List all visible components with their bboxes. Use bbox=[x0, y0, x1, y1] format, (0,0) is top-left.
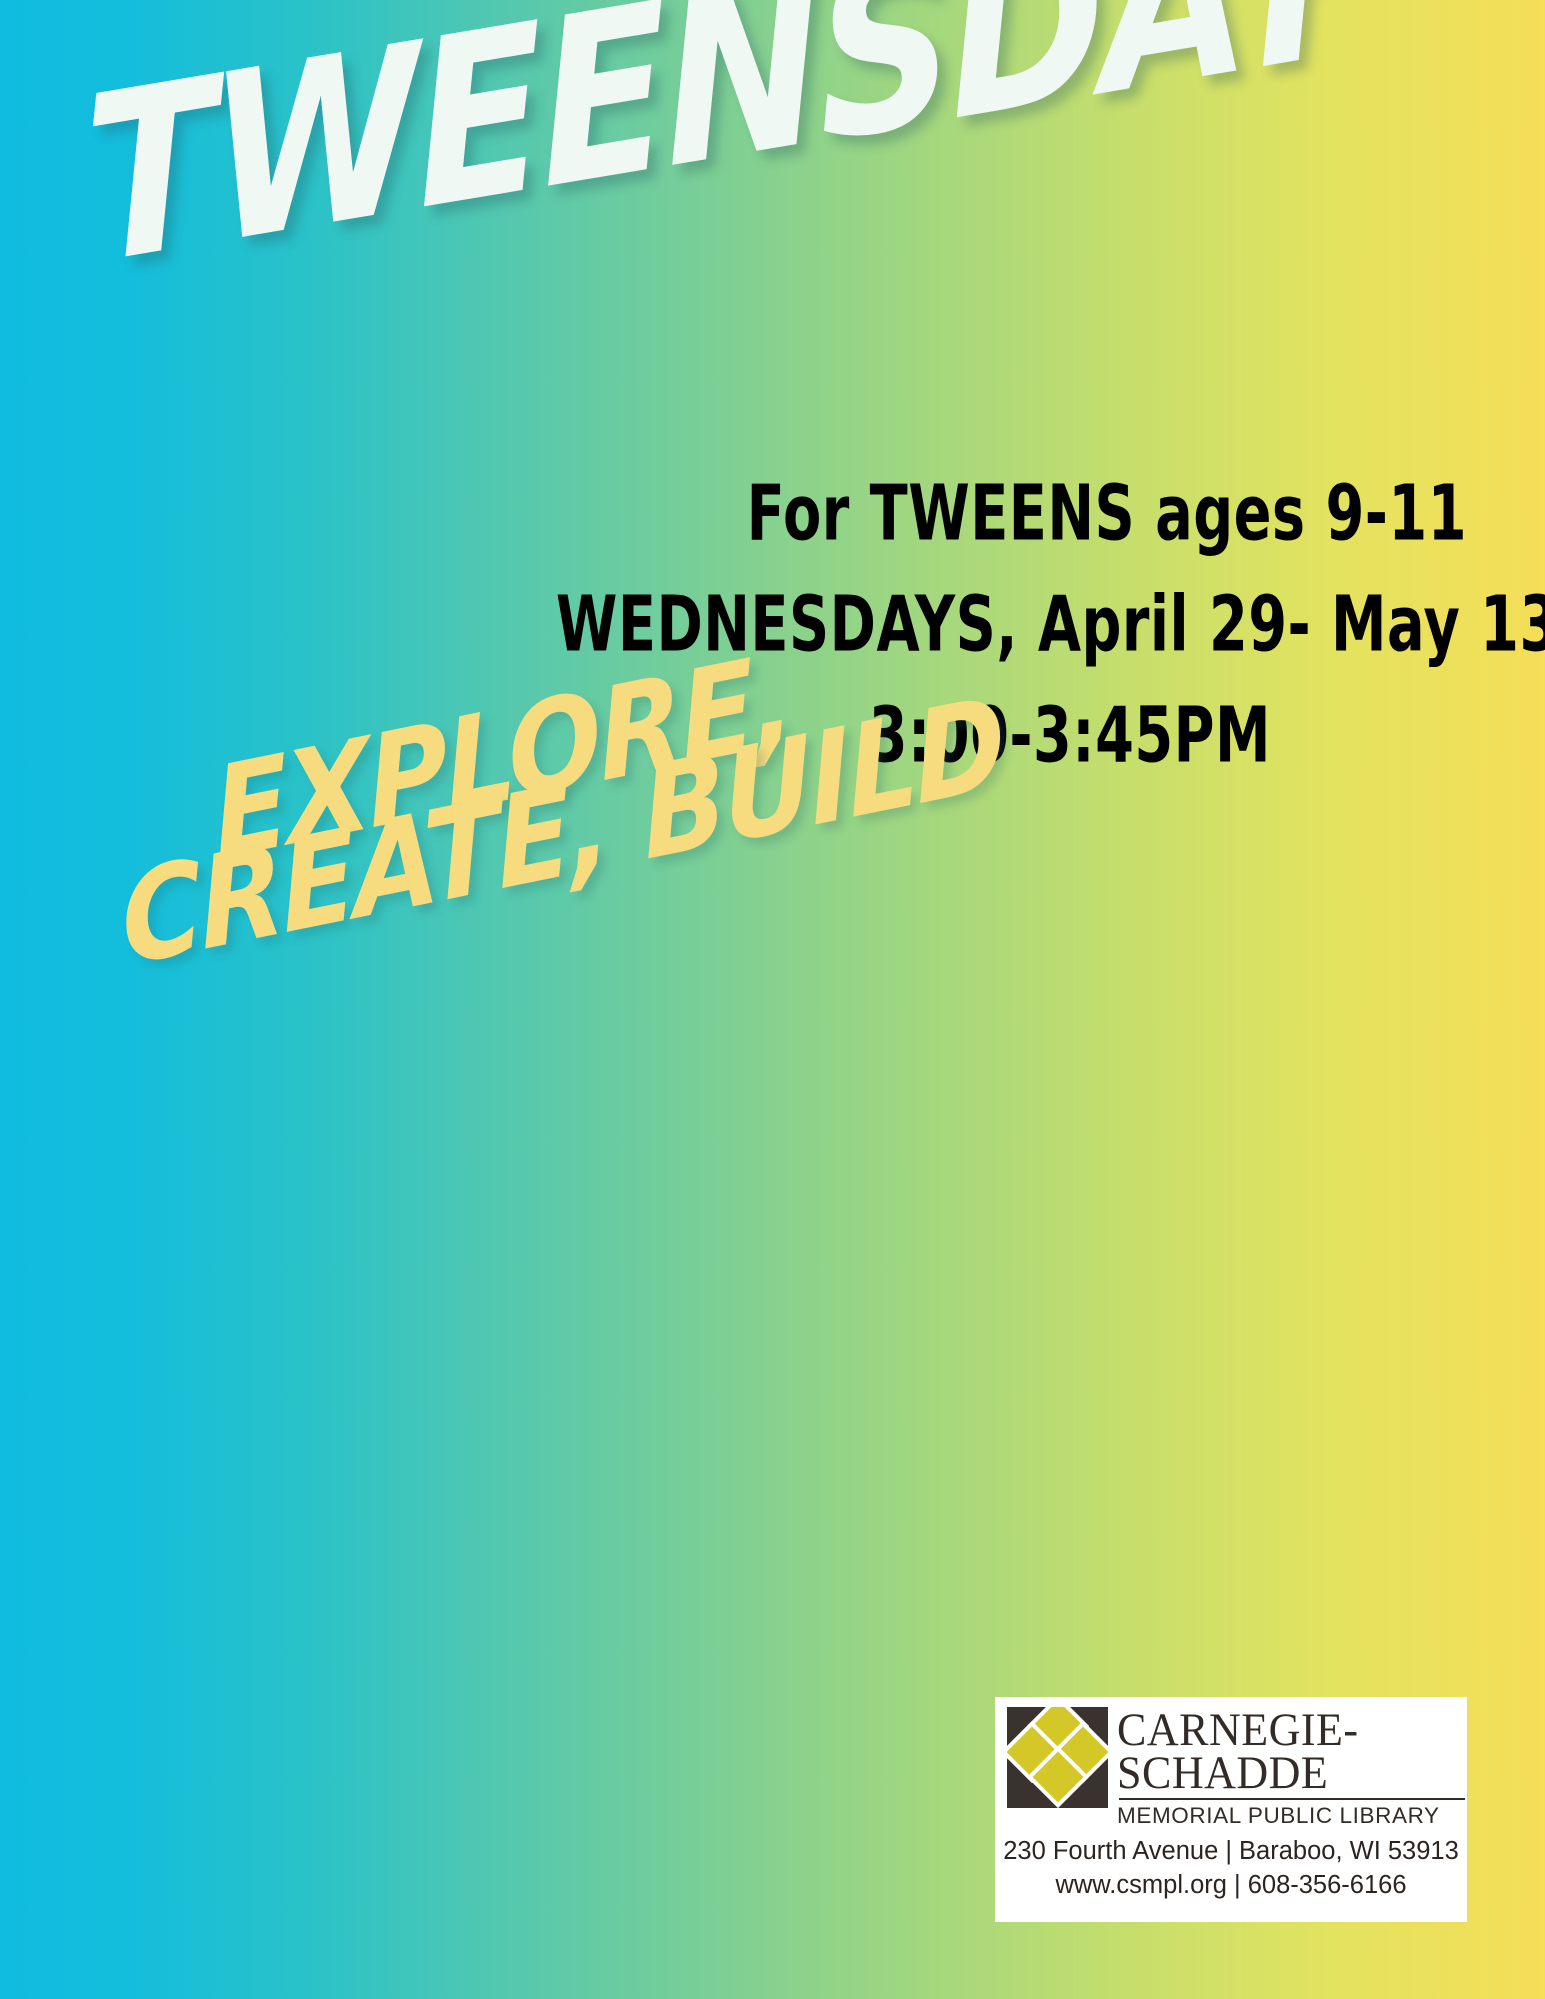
logo-contact-block: 230 Fourth Avenue | Baraboo, WI 53913 ww… bbox=[995, 1829, 1467, 1902]
headline-container: TWEENSDAY bbox=[71, 0, 1087, 384]
logo-divider bbox=[1119, 1798, 1465, 1800]
logo-wordmark: CARNEGIE- SCHADDE MEMORIAL PUBLIC LIBRAR… bbox=[1108, 1707, 1467, 1829]
logo-contact-line: www.csmpl.org | 608-356-6166 bbox=[995, 1869, 1467, 1903]
diamond-quilt-icon bbox=[1007, 1707, 1108, 1808]
subheadline-container: EXPLORE, CREATE, BUILD bbox=[118, 716, 1018, 1016]
logo-tagline: MEMORIAL PUBLIC LIBRARY bbox=[1117, 1804, 1467, 1829]
event-audience-line: For TWEENS ages 9-11 bbox=[556, 458, 1467, 572]
logo-address-line: 230 Fourth Avenue | Baraboo, WI 53913 bbox=[995, 1835, 1467, 1869]
library-logo-card: CARNEGIE- SCHADDE MEMORIAL PUBLIC LIBRAR… bbox=[995, 1697, 1467, 1922]
logo-name-line-1: CARNEGIE- bbox=[1117, 1707, 1467, 1752]
logo-name-line-2: SCHADDE bbox=[1117, 1750, 1467, 1795]
poster-canvas: TWEENSDAY For TWEENS ages 9-11 WEDNESDAY… bbox=[0, 0, 1545, 1999]
logo-top-row: CARNEGIE- SCHADDE MEMORIAL PUBLIC LIBRAR… bbox=[995, 1697, 1467, 1829]
poster-headline: TWEENSDAY bbox=[80, 0, 1061, 298]
